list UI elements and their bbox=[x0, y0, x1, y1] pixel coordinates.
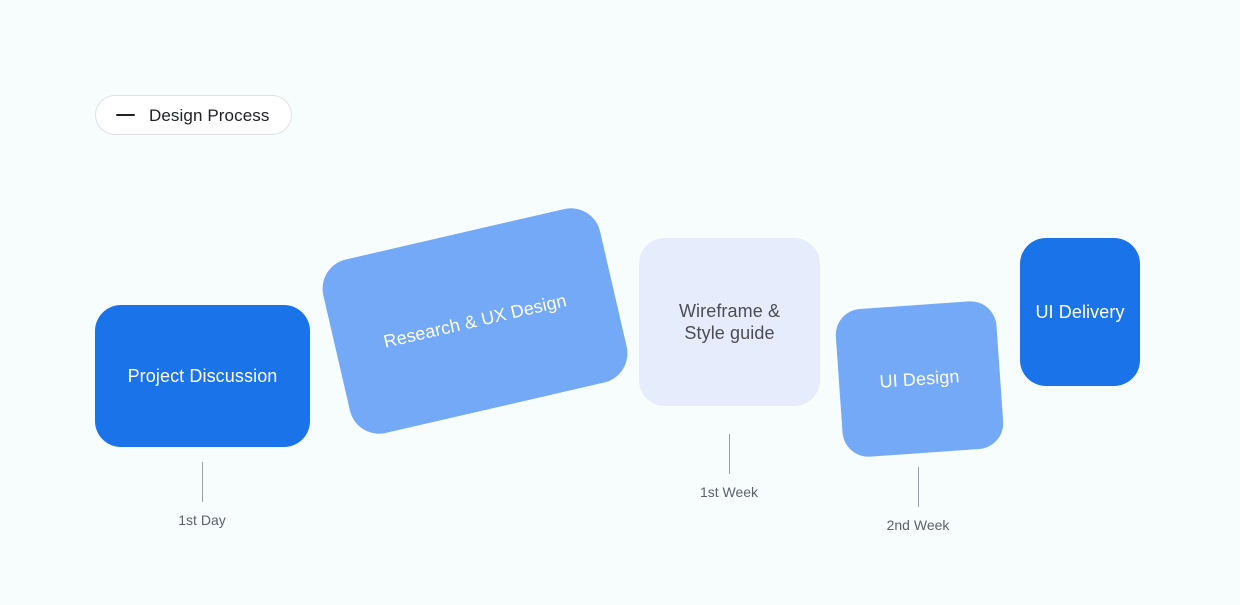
timeline-card-label: Project Discussion bbox=[128, 365, 278, 388]
timeline-connector-1st-week: 1st Week bbox=[679, 434, 779, 499]
timeline-card-label: UI Delivery bbox=[1035, 301, 1124, 324]
dash-icon bbox=[116, 114, 135, 116]
timeline-card-label: Wireframe & Style guide bbox=[679, 300, 780, 345]
timeline-card-ui-delivery[interactable]: UI Delivery bbox=[1020, 238, 1140, 386]
connector-label: 1st Week bbox=[700, 485, 758, 499]
timeline-card-label: Research & UX Design bbox=[381, 289, 568, 353]
connector-label: 2nd Week bbox=[887, 518, 950, 532]
design-process-badge[interactable]: Design Process bbox=[95, 95, 292, 135]
timeline-card-ui-design[interactable]: UI Design bbox=[834, 300, 1005, 459]
connector-label: 1st Day bbox=[178, 513, 225, 527]
connector-line-icon bbox=[729, 434, 730, 474]
connector-line-icon bbox=[202, 462, 203, 502]
timeline-connector-2nd-week: 2nd Week bbox=[868, 467, 968, 532]
badge-label: Design Process bbox=[149, 107, 269, 124]
connector-line-icon bbox=[918, 467, 919, 507]
timeline-card-research-ux-design[interactable]: Research & UX Design bbox=[317, 202, 634, 439]
timeline-card-wireframe-style-guide[interactable]: Wireframe & Style guide bbox=[639, 238, 820, 406]
timeline-card-label: UI Design bbox=[879, 365, 960, 393]
timeline-connector-1st-day: 1st Day bbox=[152, 462, 252, 527]
timeline-card-project-discussion[interactable]: Project Discussion bbox=[95, 305, 310, 447]
diagram-canvas: Design Process Project Discussion Resear… bbox=[0, 0, 1240, 605]
